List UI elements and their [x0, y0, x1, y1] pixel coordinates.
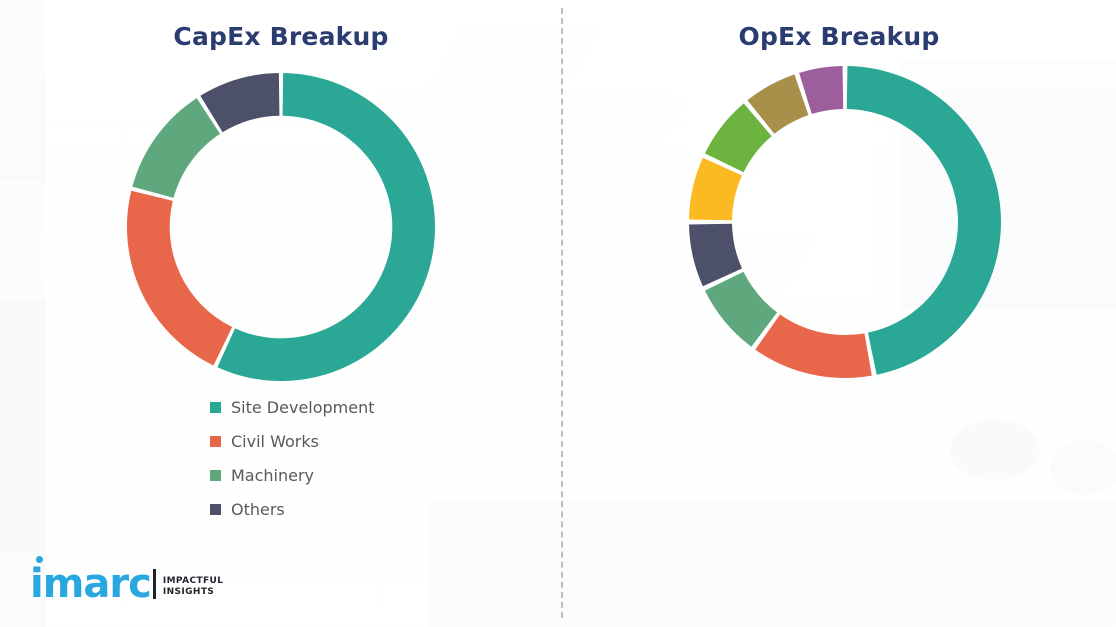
logo-tagline: IMPACTFUL INSIGHTS — [163, 576, 224, 604]
capex-donut-svg — [122, 68, 440, 386]
legend-swatch — [210, 504, 221, 515]
capex-panel: CapEx Breakup Site DevelopmentCivil Work… — [0, 0, 562, 627]
legend-label: Site Development — [231, 398, 375, 417]
legend-swatch — [210, 436, 221, 447]
capex-legend: Site DevelopmentCivil WorksMachineryOthe… — [210, 390, 375, 526]
donut-slice-civil-works — [127, 191, 232, 366]
logo-divider-bar — [153, 569, 156, 599]
capex-chart-title: CapEx Breakup — [0, 22, 562, 51]
capex-donut-chart — [122, 68, 440, 386]
donut-slice-salaries-and-wages — [755, 314, 872, 378]
logo-text: imarc — [30, 561, 151, 607]
logo-dot-icon — [36, 556, 43, 563]
donut-slice-raw-materials — [847, 66, 1001, 375]
logo-tagline-line1: IMPACTFUL — [163, 576, 224, 587]
logo-tagline-line2: INSIGHTS — [163, 587, 224, 598]
donut-slice-machinery — [132, 98, 220, 198]
legend-swatch — [210, 470, 221, 481]
opex-panel: OpEx Breakup Raw MaterialsSalaries and W… — [562, 0, 1116, 627]
legend-item[interactable]: Site Development — [210, 390, 375, 424]
legend-label: Civil Works — [231, 432, 319, 451]
legend-item[interactable]: Machinery — [210, 458, 375, 492]
opex-donut-chart — [685, 62, 1005, 382]
legend-item[interactable]: Civil Works — [210, 424, 375, 458]
opex-chart-title: OpEx Breakup — [562, 22, 1116, 51]
imarc-logo: imarc IMPACTFUL INSIGHTS — [30, 565, 223, 603]
opex-donut-svg — [685, 62, 1005, 382]
legend-label: Others — [231, 500, 285, 519]
donut-slice-others — [799, 66, 843, 114]
legend-item[interactable]: Others — [210, 492, 375, 526]
legend-swatch — [210, 402, 221, 413]
logo-wordmark: imarc — [30, 565, 151, 603]
legend-label: Machinery — [231, 466, 314, 485]
panel-divider — [561, 8, 563, 618]
